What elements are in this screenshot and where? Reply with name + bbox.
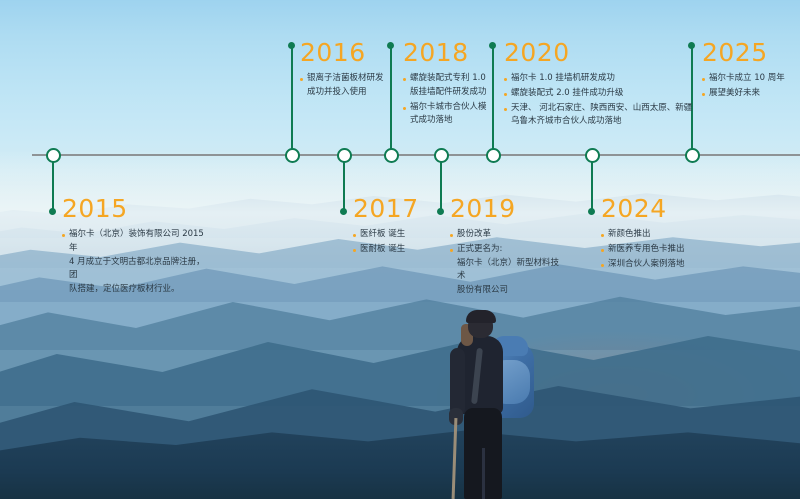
year-label-2018: 2018 [403,40,498,65]
year-label-2025: 2025 [702,40,797,65]
bullet-item: 天津、 河北石家庄、陕西西安、山西太原、新疆 乌鲁木齐城市合伙人成功落地 [504,102,709,130]
year-label-2020: 2020 [504,40,709,65]
timeline-node-2024[interactable] [585,148,600,163]
timeline-stem-2016 [291,45,293,157]
bullet-dot-icon [353,249,356,252]
trekking-pole [452,418,458,499]
timeline-stem-2024 [591,155,593,212]
bullet-dot-icon [353,234,356,237]
bullet-dot-icon [403,78,406,81]
bullet-text: 医纤板 诞生 [360,228,405,242]
bullet-dot-icon [504,93,507,96]
bullet-list-2017: 医纤板 诞生 医耐板 诞生 [353,228,433,257]
bullet-dot-icon [504,108,507,111]
timeline-entry-2017: 2017 医纤板 诞生 医耐板 诞生 [353,196,433,258]
year-label-2024: 2024 [601,196,721,221]
bullet-dot-icon [403,107,406,110]
timeline-stem-2015 [52,155,54,212]
bullet-text: 股份改革 [457,228,491,242]
timeline-entry-2024: 2024 新颜色推出 新医养专用色卡推出 深圳合伙人案例落地 [601,196,721,272]
bullet-item: 正式更名为: 福尔卡（北京）新型材料技术 股份有限公司 [450,243,565,298]
bullet-dot-icon [450,234,453,237]
bullet-list-2024: 新颜色推出 新医养专用色卡推出 深圳合伙人案例落地 [601,228,721,271]
bullet-text: 螺旋装配式专利 1.0 版挂墙配件研发成功 [410,72,487,100]
timeline-stem-cap-2016 [288,42,295,49]
year-label-2016: 2016 [300,40,400,65]
bullet-text: 螺旋装配式 2.0 挂件成功升级 [511,87,623,101]
timeline-stem-cap-2019 [437,208,444,215]
timeline-stem-2017 [343,155,345,212]
timeline-entry-2020: 2020 福尔卡 1.0 挂墙机研发成功 螺旋装配式 2.0 挂件成功升级 天津… [504,40,709,130]
bullet-text: 正式更名为: 福尔卡（北京）新型材料技术 股份有限公司 [457,243,565,298]
timeline-entry-2015: 2015 福尔卡（北京）装饰有限公司 2015 年 4 月成立于文明古都北京品牌… [62,196,212,298]
bullet-item: 银离子洁菌板材研发 成功并投入使用 [300,72,400,100]
timeline-node-2019[interactable] [434,148,449,163]
bullet-text: 福尔卡 1.0 挂墙机研发成功 [511,72,615,86]
timeline-node-2018[interactable] [384,148,399,163]
bullet-text: 新医养专用色卡推出 [608,243,685,257]
hiker-cap [466,310,496,323]
bullet-item: 福尔卡（北京）装饰有限公司 2015 年 4 月成立于文明古都北京品牌注册，团 … [62,228,212,297]
timeline-stem-cap-2017 [340,208,347,215]
bullet-dot-icon [504,78,507,81]
bullet-item: 股份改革 [450,228,565,242]
bullet-list-2025: 福尔卡成立 10 周年 展望美好未来 [702,72,797,101]
bullet-text: 天津、 河北石家庄、陕西西安、山西太原、新疆 乌鲁木齐城市合伙人成功落地 [511,102,692,130]
timeline-node-2016[interactable] [285,148,300,163]
bullet-item: 福尔卡城市合伙人模 式成功落地 [403,101,498,129]
timeline-node-2015[interactable] [46,148,61,163]
bullet-text: 福尔卡（北京）装饰有限公司 2015 年 4 月成立于文明古都北京品牌注册，团 … [69,228,212,297]
bullet-text: 银离子洁菌板材研发 成功并投入使用 [307,72,384,100]
timeline-node-2025[interactable] [685,148,700,163]
bullet-text: 深圳合伙人案例落地 [608,258,685,272]
bullet-text: 福尔卡城市合伙人模 式成功落地 [410,101,487,129]
timeline-stem-2019 [440,155,442,212]
bullet-item: 螺旋装配式专利 1.0 版挂墙配件研发成功 [403,72,498,100]
bullet-text: 新颜色推出 [608,228,651,242]
bullet-dot-icon [702,78,705,81]
hiker-leg-gap [482,448,485,499]
bullet-text: 展望美好未来 [709,87,760,101]
bullet-list-2019: 股份改革 正式更名为: 福尔卡（北京）新型材料技术 股份有限公司 [450,228,565,298]
bullet-dot-icon [601,264,604,267]
timeline-entry-2019: 2019 股份改革 正式更名为: 福尔卡（北京）新型材料技术 股份有限公司 [450,196,565,299]
bullet-item: 新颜色推出 [601,228,721,242]
timeline-stem-cap-2024 [588,208,595,215]
bullet-dot-icon [601,249,604,252]
timeline-node-2017[interactable] [337,148,352,163]
bullet-list-2018: 螺旋装配式专利 1.0 版挂墙配件研发成功 福尔卡城市合伙人模 式成功落地 [403,72,498,128]
year-label-2017: 2017 [353,196,433,221]
bullet-item: 福尔卡 1.0 挂墙机研发成功 [504,72,709,86]
timeline-entry-2018: 2018 螺旋装配式专利 1.0 版挂墙配件研发成功 福尔卡城市合伙人模 式成功… [403,40,498,129]
bullet-item: 新医养专用色卡推出 [601,243,721,257]
bullet-item: 医纤板 诞生 [353,228,433,242]
bullet-dot-icon [300,78,303,81]
bullet-item: 深圳合伙人案例落地 [601,258,721,272]
timeline-entry-2025: 2025 福尔卡成立 10 周年 展望美好未来 [702,40,797,102]
bullet-text: 福尔卡成立 10 周年 [709,72,785,86]
bullet-item: 医耐板 诞生 [353,243,433,257]
bullet-dot-icon [450,249,453,252]
bullet-item: 螺旋装配式 2.0 挂件成功升级 [504,87,709,101]
bullet-list-2015: 福尔卡（北京）装饰有限公司 2015 年 4 月成立于文明古都北京品牌注册，团 … [62,228,212,297]
hiker-arm [450,348,465,416]
hiker-figure [440,308,550,499]
year-label-2019: 2019 [450,196,565,221]
bullet-text: 医耐板 诞生 [360,243,405,257]
bullet-dot-icon [62,234,65,237]
bullet-list-2016: 银离子洁菌板材研发 成功并投入使用 [300,72,400,100]
year-label-2015: 2015 [62,196,212,221]
bullet-dot-icon [601,234,604,237]
timeline-node-2020[interactable] [486,148,501,163]
bullet-item: 展望美好未来 [702,87,797,101]
timeline-entry-2016: 2016 银离子洁菌板材研发 成功并投入使用 [300,40,400,101]
timeline-stem-cap-2015 [49,208,56,215]
bullet-item: 福尔卡成立 10 周年 [702,72,797,86]
bullet-list-2020: 福尔卡 1.0 挂墙机研发成功 螺旋装配式 2.0 挂件成功升级 天津、 河北石… [504,72,709,129]
bullet-dot-icon [702,93,705,96]
